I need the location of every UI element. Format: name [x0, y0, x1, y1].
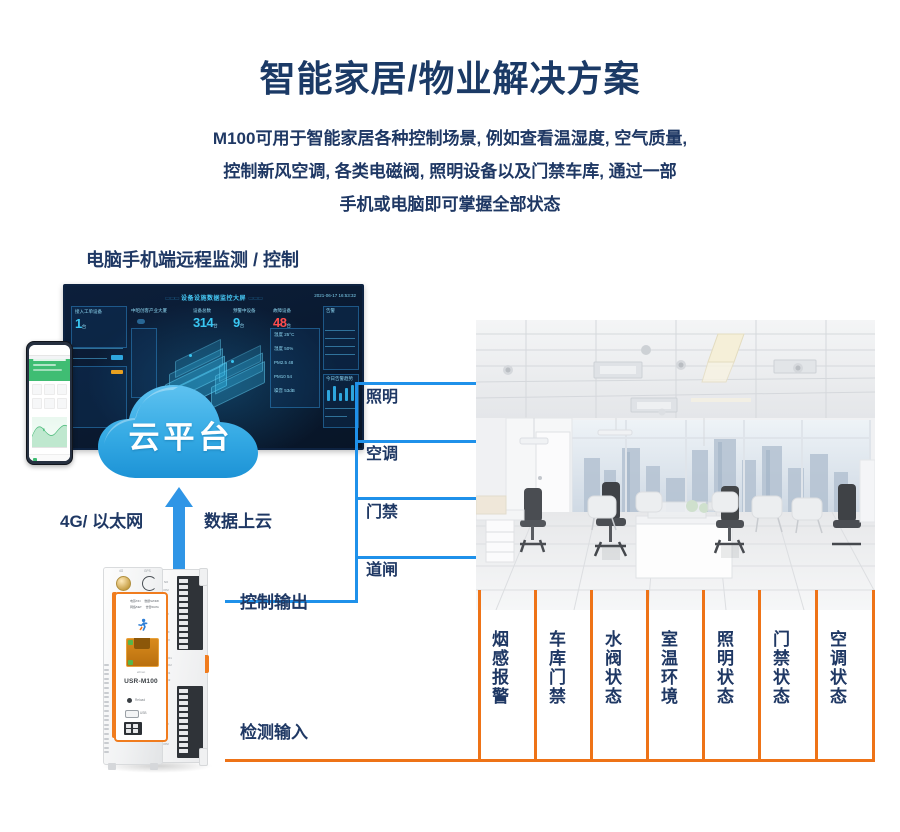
sensor-label-lighting-status: 照明状态 [715, 630, 732, 706]
phone-card[interactable] [32, 384, 42, 395]
sensor-label-valve-status: 水阀状态 [603, 630, 620, 706]
phone-card-row-1 [29, 381, 70, 395]
ethernet-port-icon [126, 638, 159, 667]
control-output-trunk [355, 382, 358, 603]
dashboard-kpi-1: 设备总数 314台 [193, 308, 218, 332]
phone-area-chart [32, 417, 67, 448]
device-side-vents [104, 664, 109, 756]
control-branch-label-hvac: 空调 [366, 440, 398, 464]
brand-mascot-icon [136, 618, 150, 632]
led-label-2: 网络/NET [130, 605, 142, 609]
phone-card[interactable] [44, 398, 54, 409]
phone-card[interactable] [57, 384, 67, 395]
dashboard-project-chip [137, 319, 145, 324]
dashboard-divider-2 [73, 358, 107, 359]
dashboard-project: 中昭创客产业大厦 [131, 308, 167, 314]
sensor-riser-2 [590, 590, 593, 762]
control-branch-label-barrier: 道闸 [366, 556, 398, 580]
device-label-gps: GPS [144, 569, 151, 573]
dashboard-kpi-2-value: 9 [233, 315, 240, 330]
antenna-connector-icon [116, 576, 131, 591]
control-branch-label-lighting: 照明 [366, 383, 398, 407]
dashboard-trend-panel [323, 374, 359, 428]
device-foot-left [108, 763, 116, 770]
data-upload-label: 数据上云 [204, 507, 272, 532]
phone-nav-bar [29, 350, 70, 356]
dashboard-kpi-1-unit: 台 [213, 323, 218, 328]
device-model-label: USR-M100 [116, 678, 166, 685]
dashboard-kpi-2: 预警中设备 9台 [233, 308, 256, 332]
dashboard-alarm-title: 告警 [326, 308, 335, 314]
detection-input-label: 检测输入 [240, 718, 308, 743]
phone-card[interactable] [57, 398, 67, 409]
page-title: 智能家居/物业解决方案 [0, 50, 900, 102]
network-label: 4G/ 以太网 [60, 507, 143, 532]
device-terminal-block-bottom [177, 686, 203, 758]
device-orange-tab [205, 655, 209, 673]
dashboard-sensor-2: PM2.5 48 [274, 360, 293, 365]
sensor-riser-5 [758, 590, 761, 762]
reload-button[interactable] [127, 698, 132, 703]
phone-card-row-2 [29, 395, 70, 409]
dashboard-sensor-3-text: PM10 54 [274, 374, 292, 379]
device-foot-right [150, 763, 158, 770]
sensor-riser-3 [646, 590, 649, 762]
status-ring-icon [142, 576, 157, 591]
dashboard-datetime: 2021-06-17 16:53:32 [314, 293, 356, 298]
dashboard-sensor-0-text: 温度 25°C [274, 332, 294, 338]
dashboard-badge-1 [111, 355, 123, 360]
sensor-riser-1 [534, 590, 537, 762]
control-output-label: 控制输出 [240, 588, 308, 613]
usr-m100-device: NO COM NC NO COM NC TX RX DO1 DO2 DI1 DI… [97, 563, 215, 775]
dashboard-badge-2 [111, 370, 123, 374]
dashboard-sensor-3: PM10 54 [274, 374, 292, 379]
dashboard-sensor-1: 湿度 50% [274, 346, 293, 352]
sensor-label-room-climate: 室温环境 [659, 630, 676, 706]
phone-tab-bar[interactable] [29, 454, 70, 461]
mobile-phone-mockup [26, 341, 73, 465]
page-subtitle: M100可用于智能家居各种控制场景, 例如查看温湿度, 空气质量, 控制新风空调… [150, 122, 750, 221]
dashboard-kpi-1-value: 314 [193, 315, 213, 330]
dashboard-project-label: 中昭创客产业大厦 [131, 308, 167, 314]
sensor-riser-0 [478, 590, 481, 762]
office-interior-photo [476, 320, 875, 610]
device-led-legend: 电源/ON 数据/WORK 网络/NET 告警/DATA [130, 599, 172, 611]
sensor-label-smoke-alarm: 烟感报警 [490, 630, 507, 706]
device-terminal-block-top [177, 576, 203, 650]
sensor-riser-4 [702, 590, 705, 762]
device-din-clip-top [199, 568, 208, 586]
dashboard-kpi-0-unit: 台 [82, 324, 87, 329]
dashboard-sensor-0: 温度 25°C [274, 332, 294, 338]
dashboard-kpi-0-value: 1 [75, 316, 82, 331]
sensor-label-garage-access: 车库门禁 [547, 630, 564, 706]
dashboard-title-dash-left: ▭▭▭ [165, 296, 179, 302]
remote-monitor-caption: 电脑手机端远程监测 / 控制 [86, 246, 299, 272]
phone-app-header [29, 359, 70, 381]
usb-port-icon [125, 710, 139, 718]
power-terminal-block [124, 722, 142, 735]
led-label-0: 电源/ON [130, 599, 140, 603]
dashboard-sensor-2-text: PM2.5 48 [274, 360, 293, 365]
usb-label: USB [140, 711, 147, 715]
dashboard-kpi-2-label: 预警中设备 [233, 308, 256, 314]
dashboard-title-dash-right: ▭▭▭ [248, 296, 262, 302]
data-upload-arrow-icon [165, 487, 193, 572]
cloud-platform-graphic: 云平台 [92, 382, 270, 482]
dashboard-kpi-0-label: 接入工单设备 [75, 309, 102, 315]
sensor-riser-6 [815, 590, 818, 762]
dashboard-sensor-4-text: 噪音 53dB [274, 388, 295, 394]
phone-card[interactable] [32, 398, 42, 409]
sensor-label-access-status: 门禁状态 [771, 630, 788, 706]
device-label-4g: 4G [119, 569, 123, 573]
poster-root: 智能家居/物业解决方案 M100可用于智能家居各种控制场景, 例如查看温湿度, … [0, 0, 900, 832]
sensor-label-hvac-status: 空调状态 [828, 630, 845, 706]
dashboard-chart-title: 今日告警趋势 [326, 376, 353, 382]
device-din-clip-bottom [199, 748, 208, 766]
dashboard-kpi-3-label: 故障设备 [273, 308, 291, 314]
device-front-panel: 电源/ON 数据/WORK 网络/NET 告警/DATA [114, 592, 168, 742]
dashboard-kpi-2-unit: 台 [240, 323, 245, 328]
phone-card[interactable] [44, 384, 54, 395]
dashboard-sensor-panel [270, 328, 320, 408]
detection-input-trunk [225, 759, 875, 762]
led-label-1: 数据/WORK [144, 599, 159, 603]
dashboard-sensor-1-text: 湿度 50% [274, 346, 293, 352]
sensor-riser-7 [872, 590, 875, 762]
device-main-unit: 4G GPS 电源/ON 数据/WORK 网络/NET 告警/DATA [103, 567, 163, 765]
led-label-3: 告警/DATA [146, 605, 159, 609]
dashboard-sensor-4: 噪音 53dB [274, 388, 295, 394]
dashboard-divider-1 [73, 348, 123, 349]
reload-label: Reload [135, 698, 145, 702]
dashboard-title: 设备设施数据监控大屏 [181, 296, 246, 302]
phone-screen [29, 345, 70, 461]
phone-app-body [29, 381, 70, 461]
dashboard-kpi-0: 接入工单设备 1台 [75, 309, 102, 333]
control-branch-label-access: 门禁 [366, 498, 398, 522]
device-port-sublabel: ethnet [116, 670, 166, 674]
dashboard-kpi-1-label: 设备总数 [193, 308, 218, 314]
